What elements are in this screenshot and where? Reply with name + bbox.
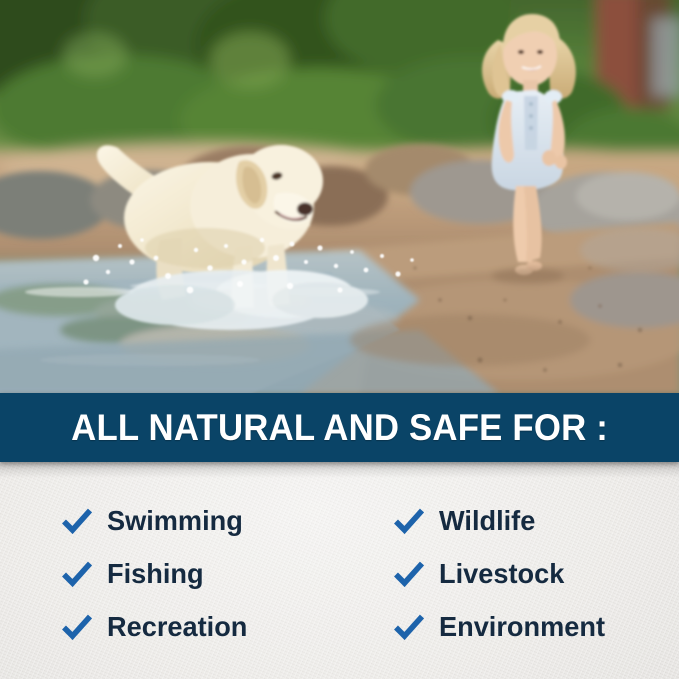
benefit-label: Fishing	[107, 560, 204, 588]
benefit-label: Environment	[439, 613, 605, 641]
check-icon	[60, 504, 94, 538]
list-item: Recreation	[0, 600, 340, 653]
benefit-label: Recreation	[107, 613, 247, 641]
check-icon	[60, 610, 94, 644]
list-item: Fishing	[0, 547, 340, 600]
benefits-checklist: Swimming Wildlife Fishing Livestock	[0, 462, 679, 679]
benefit-label: Swimming	[107, 507, 243, 535]
benefits-panel: Swimming Wildlife Fishing Livestock	[0, 462, 679, 679]
list-item: Environment	[340, 600, 679, 653]
check-icon	[392, 557, 426, 591]
check-icon	[392, 610, 426, 644]
hero-photo-illustration	[0, 0, 679, 394]
list-item: Wildlife	[340, 494, 679, 547]
benefit-label: Wildlife	[439, 507, 535, 535]
benefit-label: Livestock	[439, 560, 564, 588]
list-item: Livestock	[340, 547, 679, 600]
list-item: Swimming	[0, 494, 340, 547]
product-infographic: ALL NATURAL AND SAFE FOR : Swimming Wild…	[0, 0, 679, 679]
banner-title: ALL NATURAL AND SAFE FOR :	[71, 409, 608, 446]
check-icon	[60, 557, 94, 591]
headline-banner: ALL NATURAL AND SAFE FOR :	[0, 393, 679, 462]
check-icon	[392, 504, 426, 538]
hero-photo	[0, 0, 679, 394]
